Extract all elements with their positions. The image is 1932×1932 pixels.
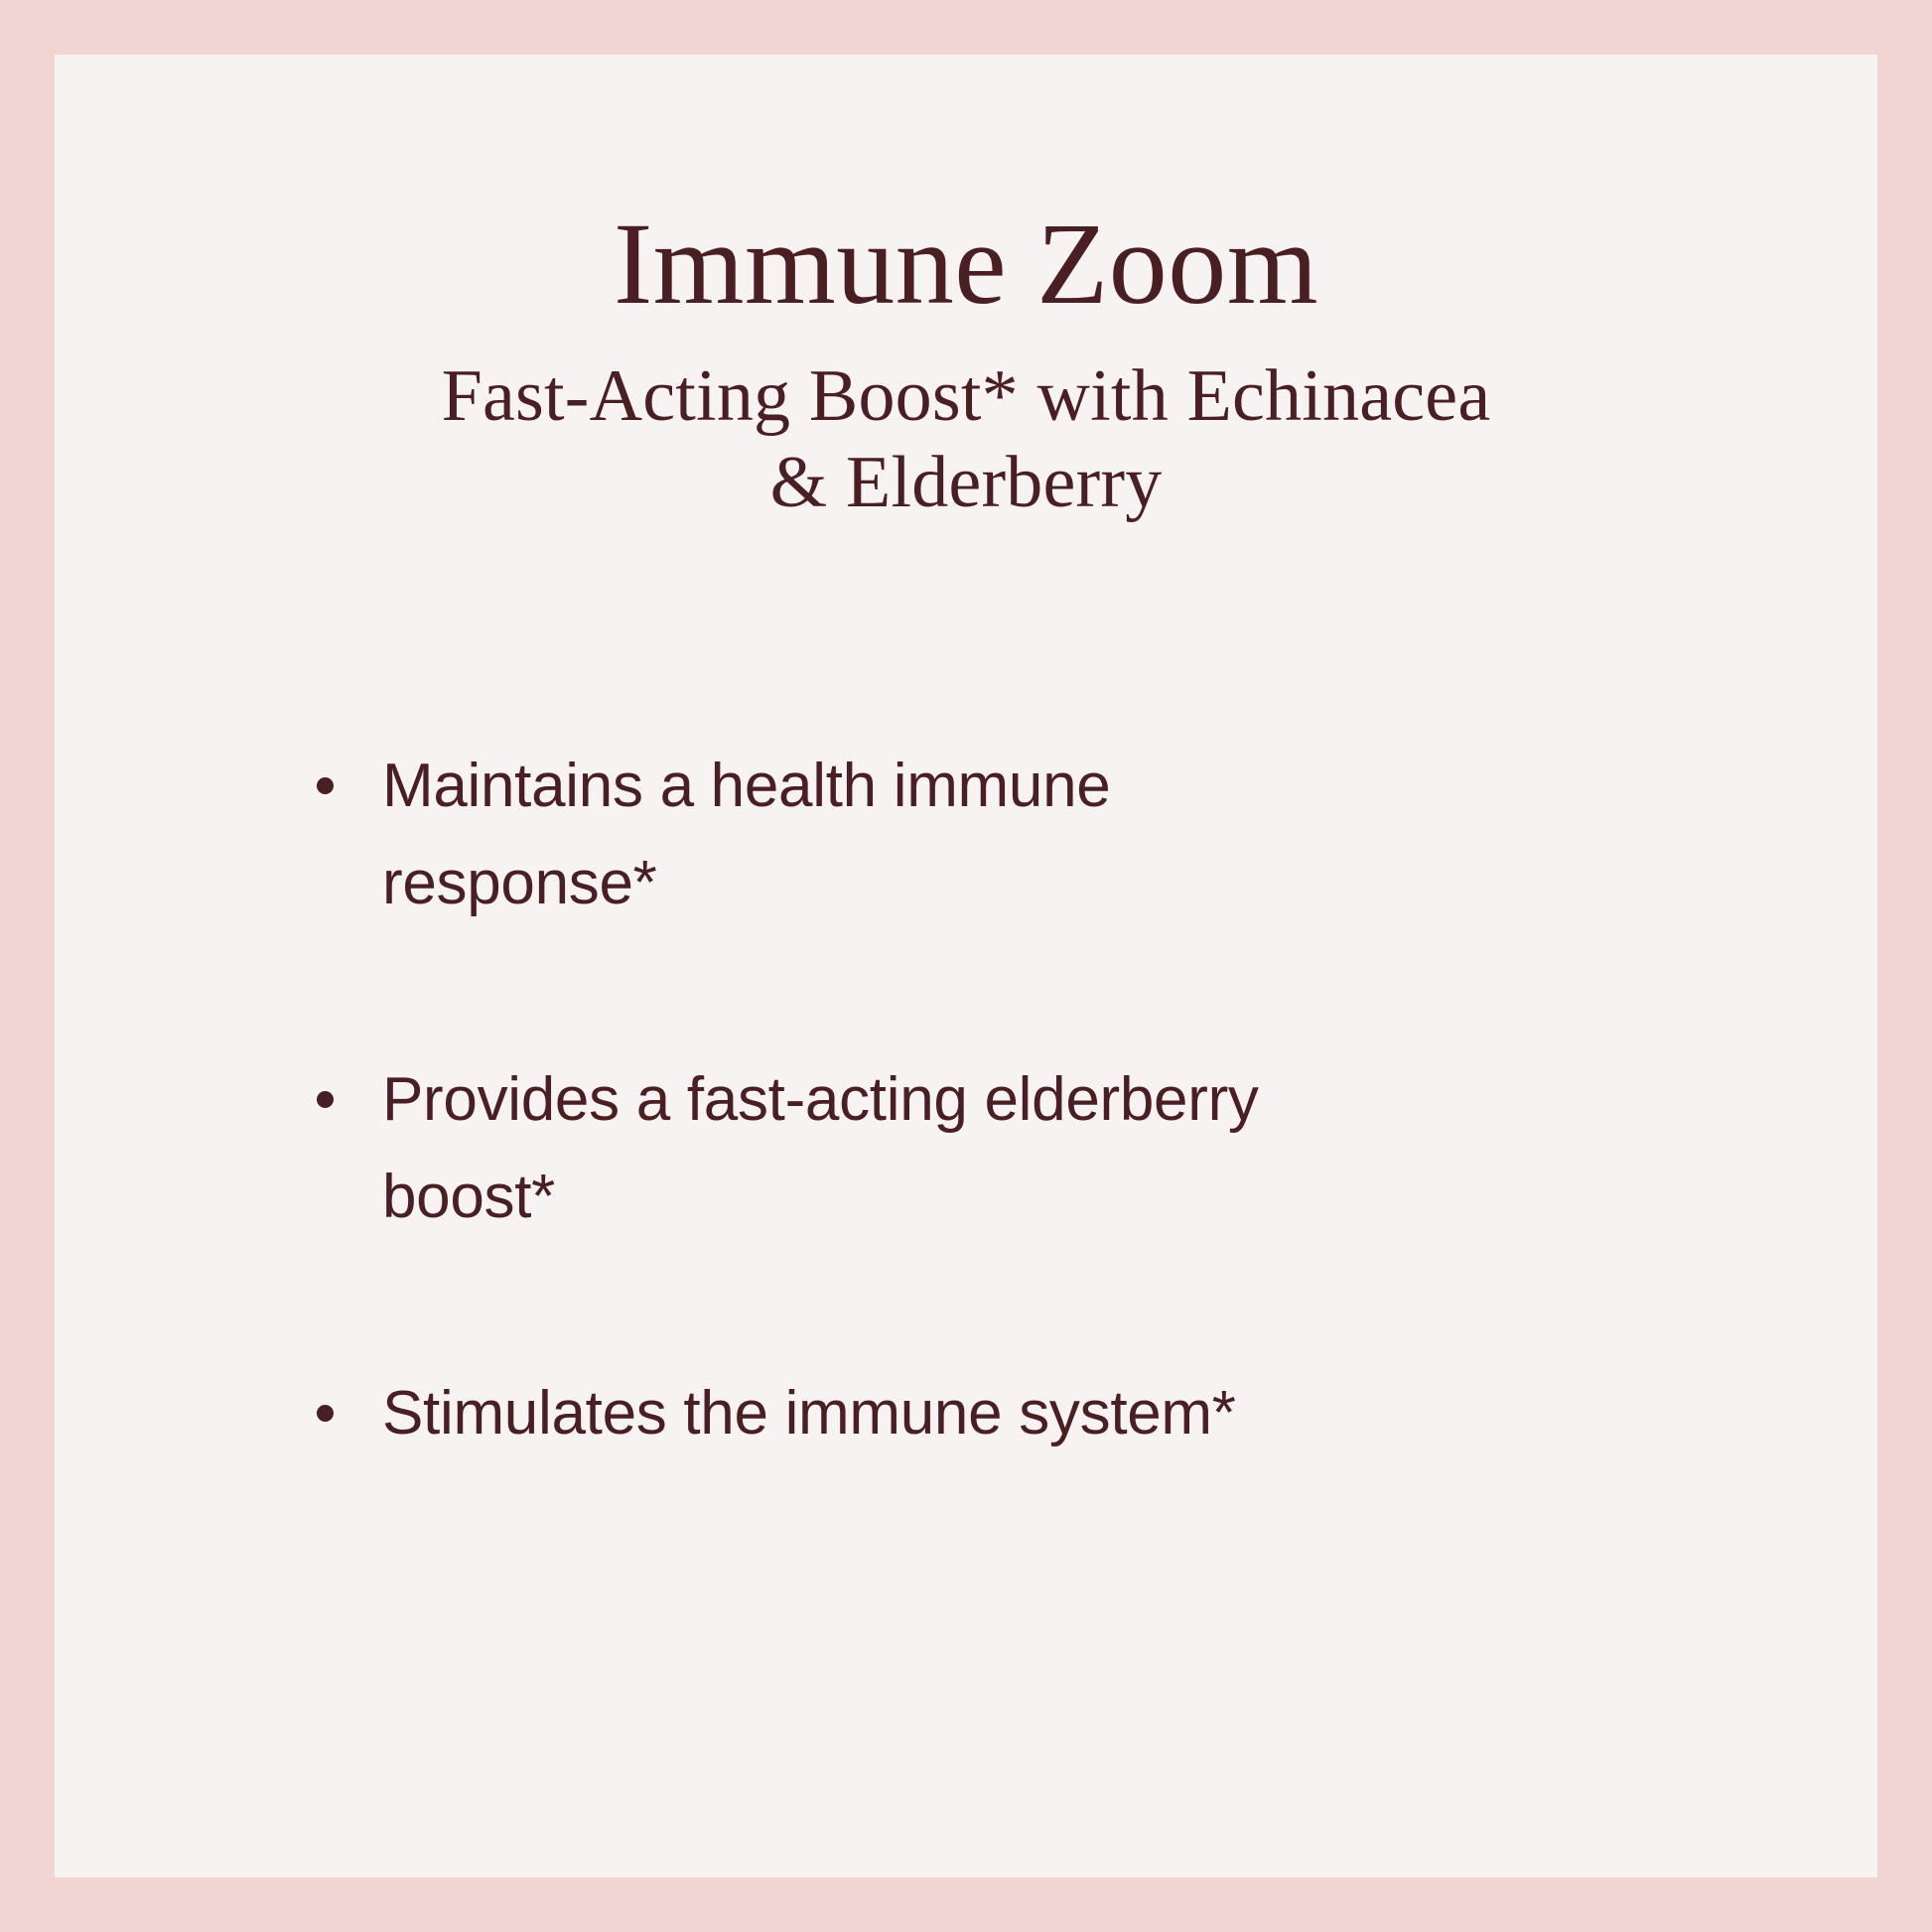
heading-block: Immune Zoom Fast-Acting Boost* with Echi… xyxy=(55,199,1877,527)
list-item: Stimulates the immune system* xyxy=(261,1365,1393,1462)
page-title: Immune Zoom xyxy=(55,199,1877,330)
benefit-text: Maintains a health immune response* xyxy=(382,738,1393,932)
product-info-card: Immune Zoom Fast-Acting Boost* with Echi… xyxy=(0,0,1932,1932)
bullet-icon xyxy=(317,777,334,794)
benefit-text: Stimulates the immune system* xyxy=(382,1365,1393,1462)
benefits-list: Maintains a health immune response* Prov… xyxy=(261,738,1393,1462)
list-item: Maintains a health immune response* xyxy=(261,738,1393,932)
product-subtitle: Fast-Acting Boost* with Echinacea & Elde… xyxy=(405,353,1527,527)
benefit-text: Provides a fast-acting elderberry boost* xyxy=(382,1051,1393,1246)
card-inner-panel: Immune Zoom Fast-Acting Boost* with Echi… xyxy=(55,55,1877,1877)
bullet-icon xyxy=(317,1405,334,1422)
list-item: Provides a fast-acting elderberry boost* xyxy=(261,1051,1393,1246)
bullet-icon xyxy=(317,1091,334,1108)
